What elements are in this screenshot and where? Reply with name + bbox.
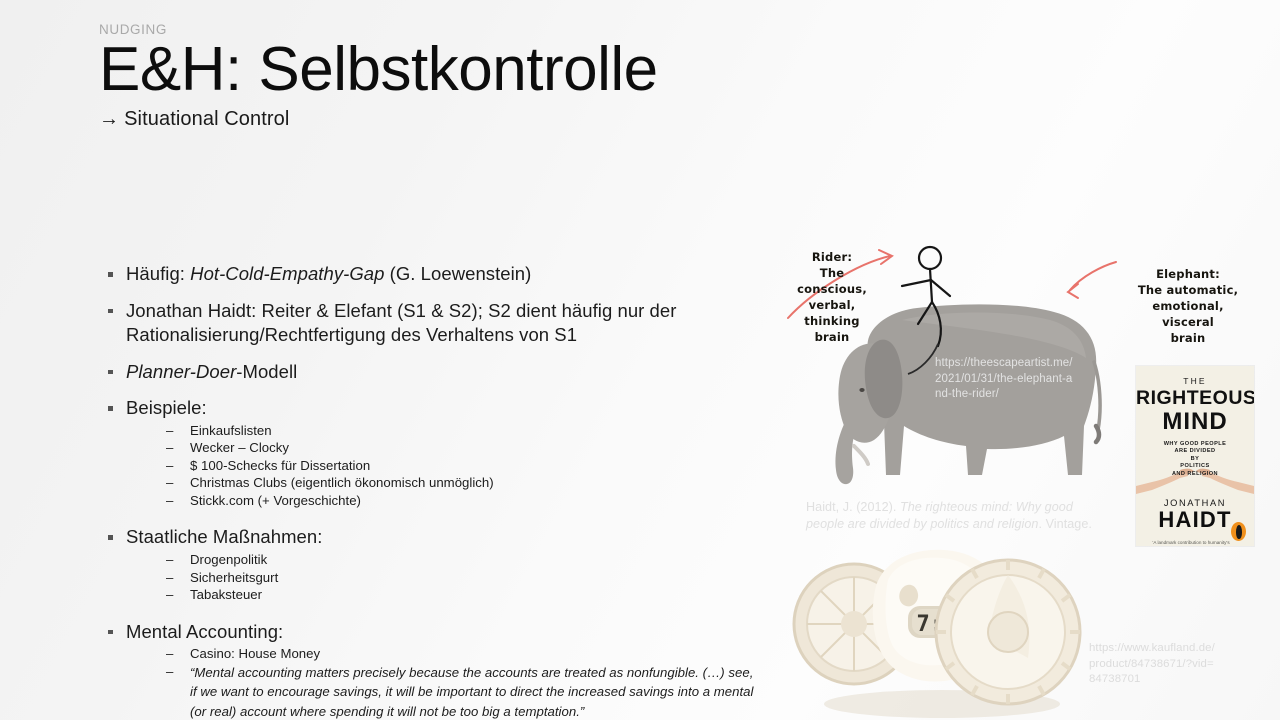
bullet-item: Jonathan Haidt: Reiter & Elefant (S1 & S…: [104, 299, 754, 348]
sub-bullet-text: Stickk.com (+ Vorgeschichte): [190, 493, 361, 508]
bullet-italic-text: Planner-Doer: [126, 361, 236, 382]
square-bullet-icon: [108, 406, 113, 411]
dash-bullet-icon: –: [166, 586, 173, 604]
book-title-line2: MIND: [1136, 409, 1254, 434]
bullet-lead-text: Staatliche Maßnahmen:: [126, 526, 322, 547]
title-block: NUDGING E&H: Selbstkontrolle →Situationa…: [99, 22, 859, 132]
sub-bullet-item: –Sicherheitsgurt: [126, 569, 754, 587]
bullet-lead-text: Häufig:: [126, 263, 190, 284]
dash-bullet-icon: –: [166, 569, 173, 587]
sub-bullet-item: –Christmas Clubs (eigentlich ökonomisch …: [126, 474, 754, 492]
rider-annotation-label: Rider: The conscious, verbal, thinking b…: [786, 249, 878, 345]
book-cover-righteous-mind: THE RIGHTEOUS MIND WHY GOOD PEOPLE ARE D…: [1136, 366, 1254, 546]
sub-bullet-item: –Tabaksteuer: [126, 586, 754, 604]
bullet-item: Häufig: Hot-Cold-Empathy-Gap (G. Loewens…: [104, 262, 754, 287]
bullet-item: Beispiele: –Einkaufslisten –Wecker – Clo…: [104, 396, 754, 509]
dash-bullet-icon: –: [166, 439, 173, 457]
bullet-tail-text: -Modell: [236, 361, 297, 382]
sub-bullet-list: –Einkaufslisten –Wecker – Clocky –$ 100-…: [126, 422, 754, 510]
dash-bullet-icon: –: [166, 492, 173, 510]
sub-bullet-text: Sicherheitsgurt: [190, 570, 278, 585]
square-bullet-icon: [108, 535, 113, 540]
bullet-lead-text: Beispiele:: [126, 397, 207, 418]
book-blurb: ‘A landmark contribution to humanity’s u…: [1136, 540, 1254, 546]
sub-bullet-text: Wecker – Clocky: [190, 440, 289, 455]
bullet-lead-text: Mental Accounting:: [126, 621, 283, 642]
book-subtitle: WHY GOOD PEOPLE ARE DIVIDED BY POLITICS …: [1136, 441, 1254, 478]
sub-bullet-text: Einkaufslisten: [190, 423, 272, 438]
slide-canvas: NUDGING E&H: Selbstkontrolle →Situationa…: [0, 0, 1280, 720]
bullet-italic-text: Hot-Cold-Empathy-Gap: [190, 263, 384, 284]
bullet-item: Planner-Doer-Modell: [104, 360, 754, 385]
page-subtitle: →Situational Control: [99, 106, 859, 132]
bullet-item: Staatliche Maßnahmen: –Drogenpolitik –Si…: [104, 525, 754, 603]
dash-bullet-icon: –: [166, 422, 173, 440]
haidt-citation: Haidt, J. (2012). The righteous mind: Wh…: [806, 499, 1111, 532]
dash-bullet-icon: –: [166, 474, 173, 492]
sub-bullet-list: –Drogenpolitik –Sicherheitsgurt –Tabakst…: [126, 551, 754, 604]
sub-bullet-item: –Einkaufslisten: [126, 422, 754, 440]
book-blurb-text: ‘A landmark contribution to humanity’s u…: [1152, 540, 1229, 546]
bullet-lead-text: Jonathan Haidt: Reiter & Elefant (S1 & S…: [126, 300, 676, 346]
content-bullet-list: Häufig: Hot-Cold-Empathy-Gap (G. Loewens…: [104, 262, 754, 720]
page-title: E&H: Selbstkontrolle: [99, 36, 859, 104]
right-wheel: [936, 560, 1080, 704]
square-bullet-icon: [108, 272, 113, 277]
sub-bullet-text: $ 100-Schecks für Dissertation: [190, 458, 370, 473]
red-arrow-to-elephant: [1068, 262, 1116, 298]
sub-bullet-text: Casino: House Money: [190, 646, 320, 661]
citation-suffix: . Vintage.: [1038, 517, 1091, 531]
square-bullet-icon: [108, 370, 113, 375]
quote-text: “Mental accounting matters precisely bec…: [190, 665, 753, 719]
subtitle-text: Situational Control: [124, 108, 289, 130]
penguin-logo-icon: [1231, 522, 1246, 541]
elephant-source-url[interactable]: https://theescapeartist.me/2021/01/31/th…: [935, 356, 1073, 403]
sub-bullet-quote-item: –“Mental accounting matters precisely be…: [126, 663, 754, 720]
clock-source-url[interactable]: https://www.kaufland.de/product/84738671…: [1089, 641, 1215, 688]
dash-bullet-icon: –: [166, 645, 173, 663]
right-arrow-icon: →: [99, 108, 119, 130]
dash-bullet-icon: –: [166, 663, 173, 681]
book-the: THE: [1136, 376, 1254, 386]
sub-bullet-text: Drogenpolitik: [190, 552, 267, 567]
dash-bullet-icon: –: [166, 551, 173, 569]
sub-bullet-item: –Stickk.com (+ Vorgeschichte): [126, 492, 754, 510]
sub-bullet-item: –$ 100-Schecks für Dissertation: [126, 457, 754, 475]
sub-bullet-item: –Wecker – Clocky: [126, 439, 754, 457]
sub-bullet-list: –Casino: House Money –“Mental accounting…: [126, 645, 754, 720]
sub-bullet-text: Christmas Clubs (eigentlich ökonomisch u…: [190, 475, 494, 490]
bullet-tail-text: (G. Loewenstein): [384, 263, 531, 284]
sub-bullet-item: –Drogenpolitik: [126, 551, 754, 569]
elephant-annotation-label: Elephant: The automatic, emotional, visc…: [1122, 266, 1254, 346]
clocky-graphic: 7:17: [792, 532, 1092, 720]
clocky-alarm-clock-image: 7:17: [792, 532, 1092, 720]
dash-bullet-icon: –: [166, 457, 173, 475]
square-bullet-icon: [108, 630, 113, 635]
square-bullet-icon: [108, 309, 113, 314]
sub-bullet-text: Tabaksteuer: [190, 587, 262, 602]
book-title-line1: RIGHTEOUS: [1136, 387, 1254, 409]
bullet-item: Mental Accounting: –Casino: House Money …: [104, 620, 754, 720]
citation-prefix: Haidt, J. (2012).: [806, 500, 900, 514]
sub-bullet-item: –Casino: House Money: [126, 645, 754, 663]
